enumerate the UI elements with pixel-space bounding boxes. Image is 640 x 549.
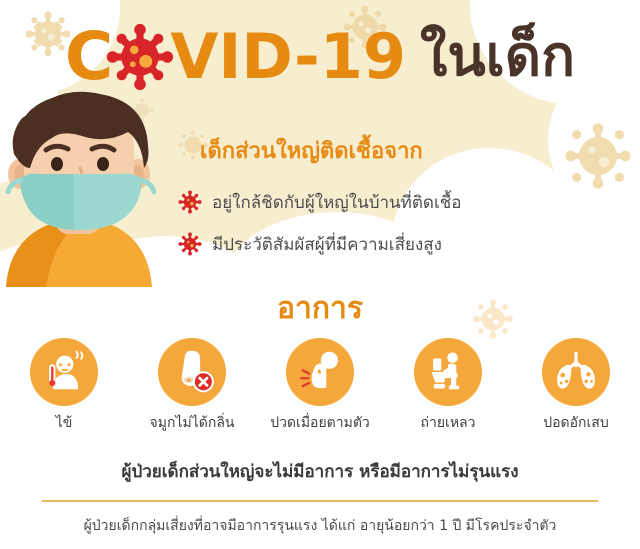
symptom-label: ปอดอักเสบ [543,412,609,434]
coronavirus-watermark-icon [340,2,390,52]
transmission-list: อยู่ใกล้ชิดกับผู้ใหญ่ในบ้านที่ติดเชื้อ [178,185,618,269]
list-item: อยู่ใกล้ชิดกับผู้ใหญ่ในบ้านที่ติดเชื้อ [178,185,618,219]
symptom-item-diarrhea: ถ่ายเหลว [386,338,510,434]
coronavirus-watermark-icon [22,8,74,60]
symptoms-heading: อาการ [0,285,640,332]
symptom-icon-circle [286,338,354,406]
transmission-heading: เด็กส่วนใหญ่ติดเชื้อจาก [200,133,423,168]
masked-child-illustration [0,88,186,287]
symptom-item-no-smell: จมูกไม่ได้กลิ่น [130,338,254,434]
lungs-pneumonia-icon [551,347,601,397]
symptom-icon-circle [30,338,98,406]
symptom-label: จมูกไม่ได้กลิ่น [150,412,235,434]
symptom-label: ถ่ายเหลว [421,412,476,434]
symptom-icon-circle [542,338,610,406]
symptom-label: ไข้ [56,412,73,434]
symptom-label: ปวดเมื่อยตามตัว [270,412,370,434]
body-ache-icon [295,347,345,397]
coronavirus-watermark-icon [560,118,636,194]
nose-no-smell-icon [166,346,218,398]
fever-thermometer-icon [39,347,89,397]
footer-note-small: ผู้ป่วยเด็กกลุ่มเสี่ยงที่อาจมีอาการรุนแร… [0,515,640,537]
list-item-label: มีประวัติสัมผัสผู้ที่มีความเสี่ยงสูง [212,231,442,258]
symptom-item-body-ache: ปวดเมื่อยตามตัว [258,338,382,434]
covid19-children-infographic: C VID-19 ในเด็ก [0,0,640,549]
coronavirus-bullet-icon [178,232,202,256]
symptom-icon-circle [158,338,226,406]
symptom-icon-circle [414,338,482,406]
footer-divider [42,500,598,502]
symptom-item-pneumonia: ปอดอักเสบ [514,338,638,434]
diarrhea-toilet-icon [424,348,472,396]
list-item: มีประวัติสัมผัสผู้ที่มีความเสี่ยงสูง [178,227,618,261]
list-item-label: อยู่ใกล้ชิดกับผู้ใหญ่ในบ้านที่ติดเชื้อ [212,189,462,216]
symptoms-list: ไข้ จมูกไม่ได้กลิ่น [0,338,640,446]
symptom-item-fever: ไข้ [2,338,126,434]
coronavirus-bullet-icon [178,190,202,214]
footer-note-strong: ผู้ป่วยเด็กส่วนใหญ่จะไม่มีอาการ หรือมีอา… [0,458,640,485]
